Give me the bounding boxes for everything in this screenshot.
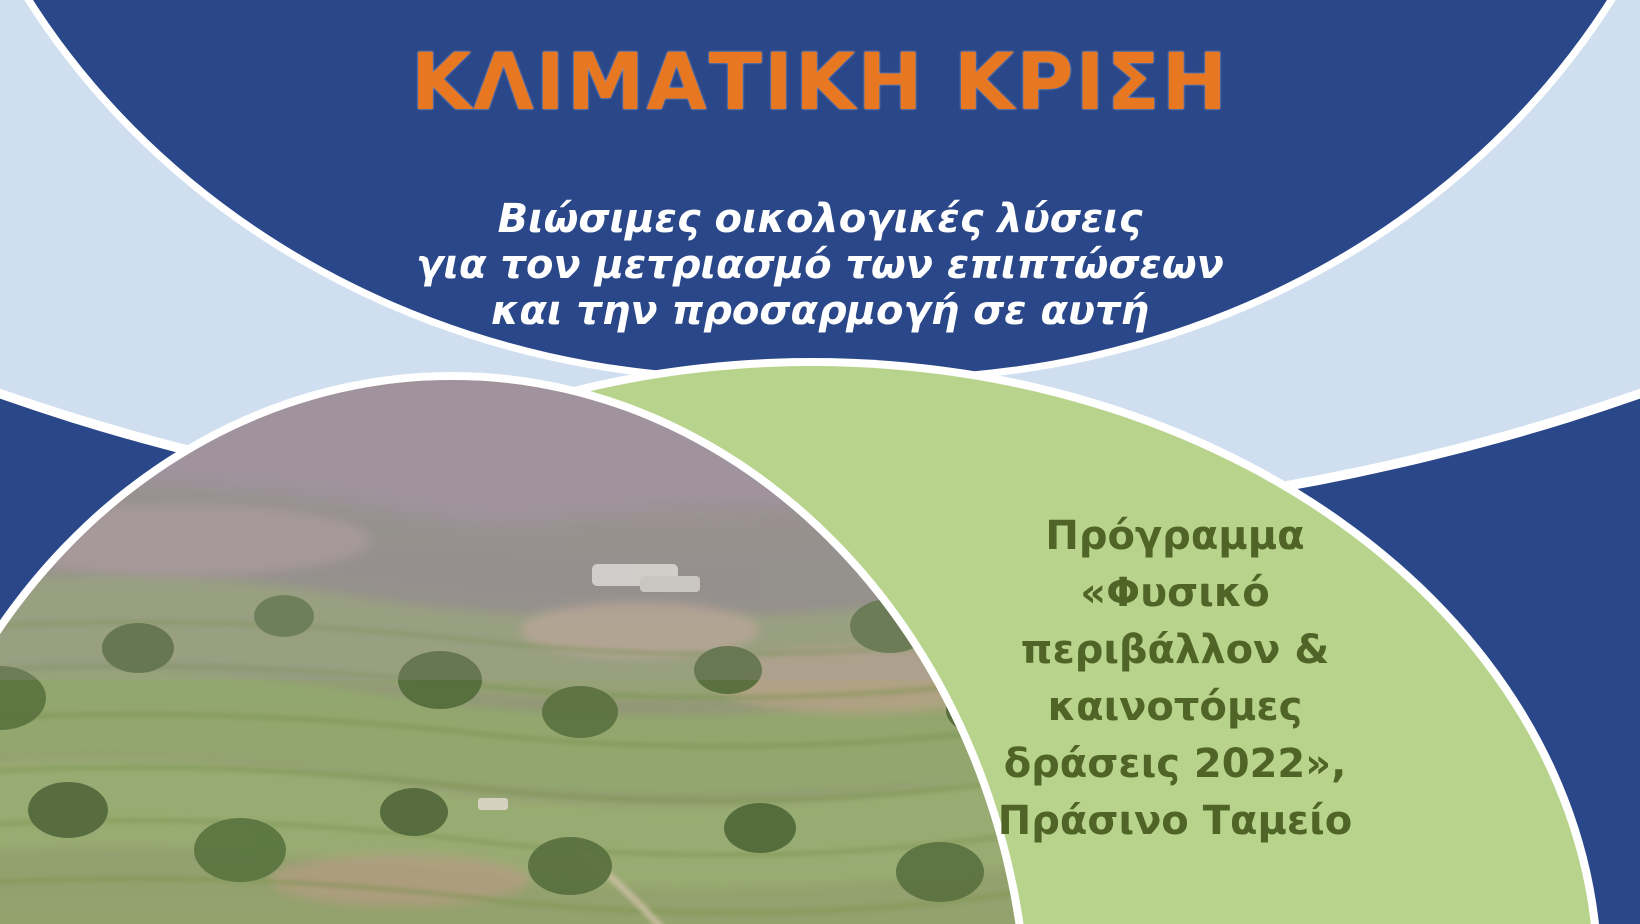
program-line-1: Πρόγραμμα	[940, 508, 1410, 565]
page-title: ΚΛΙΜΑΤΙΚΗ ΚΡΙΣΗ	[0, 38, 1640, 128]
subtitle-line-1: Βιώσιμες οικολογικές λύσεις	[0, 196, 1640, 242]
program-line-6: Πράσινο Ταμείο	[940, 793, 1410, 850]
program-line-5: δράσεις 2022»,	[940, 736, 1410, 793]
subtitle-line-3: και την προσαρμογή σε αυτή	[0, 288, 1640, 334]
subtitle-line-2: για τον μετριασμό των επιπτώσεων	[0, 242, 1640, 288]
poster-canvas: ΚΛΙΜΑΤΙΚΗ ΚΡΙΣΗ Βιώσιμες οικολογικές λύσ…	[0, 0, 1640, 924]
program-line-3: περιβάλλον &	[940, 622, 1410, 679]
subtitle-block: Βιώσιμες οικολογικές λύσεις για τον μετρ…	[0, 196, 1640, 334]
photo-frame	[0, 380, 1024, 924]
program-line-4: καινοτόμες	[940, 679, 1410, 736]
program-credit-block: Πρόγραμμα «Φυσικό περιβάλλον & καινοτόμε…	[940, 508, 1410, 850]
program-line-2: «Φυσικό	[940, 565, 1410, 622]
aerial-landscape-photo	[0, 380, 1024, 924]
